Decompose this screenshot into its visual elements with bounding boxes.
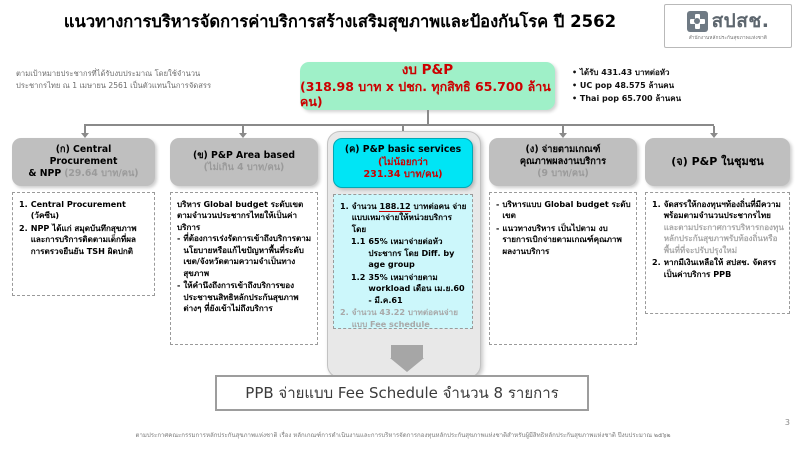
column-a-title-line2: Procurement xyxy=(50,156,118,168)
column-c-header[interactable]: (ค) P&P basic services (ไม่น้อยกว่า 231.… xyxy=(333,138,473,188)
list-text: จัดสรรให้กองทุนฯท้องถิ่นที่มีความพร้อมตา… xyxy=(664,199,784,256)
column-community-pp: (จ) P&P ในชุมชน 1. จัดสรรให้กองทุนฯท้องถ… xyxy=(645,138,790,314)
column-c-subtitle: (ไม่น้อยกว่า xyxy=(378,157,428,169)
column-d-amount: (9 บาท/คน) xyxy=(537,168,588,180)
budget-detail: (318.98 บาท x ปชก. ทุกสิทธิ 65.700 ล้านค… xyxy=(300,79,555,109)
column-a-body: 1. Central Procurement (วัคซีน) 2. NPP ไ… xyxy=(12,192,155,296)
list-marker: 2. xyxy=(652,257,661,280)
list-item: 1.2 35% เหมาจ่ายตาม workload เดือน เม.ย.… xyxy=(340,272,467,306)
column-d-body: - บริหารแบบ Global budget ระดับเขต - แนว… xyxy=(489,192,637,345)
column-b-header[interactable]: (ข) P&P Area based (ไม่เกิน 4 บาท/คน) xyxy=(170,138,318,186)
logo-row: สปสช. xyxy=(687,11,770,32)
column-e-title: (จ) P&P ในชุมชน xyxy=(671,155,763,169)
list-item: - ที่ต้องการเร่งรัดการเข้าถึงบริการตามนโ… xyxy=(177,233,312,279)
page-number: 3 xyxy=(785,418,790,427)
down-arrow-stem xyxy=(391,345,423,359)
list-text: หากมีเงินเหลือให้ สปสช. จัดสรรเป็นค่าบริ… xyxy=(664,257,784,280)
column-d-title-line1: (ง) จ่ายตามเกณฑ์ xyxy=(526,144,601,156)
logo-text: สปสช. xyxy=(712,12,770,31)
list-item: 1. จำนวน 188.12 บาทต่อคน จ่ายแบบเหมาจ่าย… xyxy=(340,201,467,235)
list-text: Central Procurement (วัคซีน) xyxy=(31,199,149,222)
hospital-cross-icon xyxy=(687,11,708,32)
connector-vertical xyxy=(427,110,429,125)
list-text: ที่ต้องการเร่งรัดการเข้าถึงบริการตามนโยบ… xyxy=(183,233,312,279)
highlighted-amount: 188.12 xyxy=(379,201,410,212)
column-central-procurement: (ก) Central Procurement & NPP (29.64 บาท… xyxy=(12,138,155,296)
column-quality-criteria: (ง) จ่ายตามเกณฑ์ คุณภาพผลงานบริการ (9 บา… xyxy=(489,138,637,345)
list-marker: 1. xyxy=(652,199,661,256)
column-a-amount: (29.64 บาท/คน) xyxy=(64,168,138,180)
budget-stat-item: • Thai pop 65.700 ล้านคน xyxy=(572,92,797,105)
list-marker: 1. xyxy=(340,201,349,235)
logo-subtitle: สำนักงานหลักประกันสุขภาพแห่งชาติ xyxy=(689,35,767,42)
budget-title: งบ P&P xyxy=(402,63,453,79)
list-item: 2. NPP ได้แก่ สมุดบันทึกสุขภาพ และการบริ… xyxy=(19,223,149,257)
column-a-title-line3: & NPP xyxy=(28,168,61,180)
list-text-pre: จำนวน xyxy=(352,201,380,211)
list-item: - ให้คำนึงถึงการเข้าถึงบริการของประชาชนส… xyxy=(177,280,312,314)
list-marker: 1. xyxy=(19,199,28,222)
list-text: จำนวน 43.22 บาทต่อคนจ่ายแบบ Fee schedule xyxy=(352,307,467,330)
list-item: 1. จัดสรรให้กองทุนฯท้องถิ่นที่มีความพร้อ… xyxy=(652,199,784,256)
column-b-amount: (ไม่เกิน 4 บาท/คน) xyxy=(204,162,285,174)
list-text: แนวทางบริหาร เป็นไปตาม งบ รายการเบิกจ่าย… xyxy=(502,223,631,257)
column-b-body: บริหาร Global budget ระดับเขต ตามจำนวนปร… xyxy=(170,192,318,345)
column-e-body: 1. จัดสรรให้กองทุนฯท้องถิ่นที่มีความพร้อ… xyxy=(645,192,790,314)
list-item: 1. Central Procurement (วัคซีน) xyxy=(19,199,149,222)
column-basic-services: (ค) P&P basic services (ไม่น้อยกว่า 231.… xyxy=(333,138,473,329)
column-d-title-line2: คุณภาพผลงานบริการ xyxy=(520,156,606,168)
column-area-based: (ข) P&P Area based (ไม่เกิน 4 บาท/คน) บร… xyxy=(170,138,318,345)
ppb-fee-schedule-box: PPB จ่ายแบบ Fee Schedule จำนวน 8 รายการ xyxy=(215,375,589,411)
list-text: จำนวน 188.12 บาทต่อคน จ่ายแบบเหมาจ่ายให้… xyxy=(352,201,467,235)
slide-canvas: แนวทางการบริหารจัดการค่าบริการสร้างเสริม… xyxy=(0,0,800,450)
list-item: - บริหารแบบ Global budget ระดับเขต xyxy=(496,199,631,222)
budget-callout: งบ P&P (318.98 บาท x ปชก. ทุกสิทธิ 65.70… xyxy=(300,62,555,110)
column-d-header[interactable]: (ง) จ่ายตามเกณฑ์ คุณภาพผลงานบริการ (9 บา… xyxy=(489,138,637,186)
connector-horizontal xyxy=(84,124,714,126)
column-a-header[interactable]: (ก) Central Procurement & NPP (29.64 บาท… xyxy=(12,138,155,186)
list-item: 2. จำนวน 43.22 บาทต่อคนจ่ายแบบ Fee sched… xyxy=(340,307,467,330)
list-text: ให้คำนึงถึงการเข้าถึงบริการของประชาชนสิท… xyxy=(183,280,312,314)
organization-logo: สปสช. สำนักงานหลักประกันสุขภาพแห่งชาติ xyxy=(664,4,792,48)
list-item: 1.1 65% เหมาจ่ายต่อหัวประชากร โดย Diff. … xyxy=(340,236,467,270)
down-arrow-icon xyxy=(390,358,424,372)
list-marker: 1.1 xyxy=(351,236,365,270)
budget-stat-item: • ได้รับ 431.43 บาทต่อหัว xyxy=(572,66,797,79)
list-text: 65% เหมาจ่ายต่อหัวประชากร โดย Diff. by a… xyxy=(368,236,467,270)
list-text: NPP ได้แก่ สมุดบันทึกสุขภาพ และการบริการ… xyxy=(31,223,149,257)
list-marker: - xyxy=(177,280,180,314)
column-a-title-line1: (ก) Central xyxy=(56,144,112,156)
column-c-body: 1. จำนวน 188.12 บาทต่อคน จ่ายแบบเหมาจ่าย… xyxy=(333,194,473,329)
column-e-header[interactable]: (จ) P&P ในชุมชน xyxy=(645,138,790,186)
list-marker: - xyxy=(496,199,499,222)
column-b-intro: บริหาร Global budget ระดับเขต ตามจำนวนปร… xyxy=(177,199,312,233)
budget-stat-item: • UC pop 48.575 ล้านคน xyxy=(572,79,797,92)
list-marker: 2. xyxy=(19,223,28,257)
list-text-main: จัดสรรให้กองทุนฯท้องถิ่นที่มีความพร้อมตา… xyxy=(664,199,781,220)
population-note: ตามเป้าหมายประชากรที่ได้รับงบประมาณ โดยใ… xyxy=(16,68,221,92)
column-c-amount: 231.34 บาท/คน) xyxy=(363,169,442,181)
list-item: 2. หากมีเงินเหลือให้ สปสช. จัดสรรเป็นค่า… xyxy=(652,257,784,280)
list-text: บริหารแบบ Global budget ระดับเขต xyxy=(502,199,631,222)
budget-stats-list: • ได้รับ 431.43 บาทต่อหัว • UC pop 48.57… xyxy=(572,66,797,106)
list-marker: - xyxy=(177,233,180,279)
list-marker: - xyxy=(496,223,499,257)
list-marker: 2. xyxy=(340,307,349,330)
list-text: 35% เหมาจ่ายตาม workload เดือน เม.ย.60 -… xyxy=(368,272,467,306)
list-item: - แนวทางบริหาร เป็นไปตาม งบ รายการเบิกจ่… xyxy=(496,223,631,257)
footer-note: ตามประกาศคณะกรรมการหลักประกันสุขภาพแห่งช… xyxy=(18,432,788,440)
list-text-dim: และตามประกาศการบริหารกองทุนหลักประกันสุข… xyxy=(664,222,784,255)
column-c-title: (ค) P&P basic services xyxy=(345,144,461,156)
list-marker: 1.2 xyxy=(351,272,365,306)
page-title: แนวทางการบริหารจัดการค่าบริการสร้างเสริม… xyxy=(30,12,650,32)
column-b-title: (ข) P&P Area based xyxy=(193,150,295,162)
